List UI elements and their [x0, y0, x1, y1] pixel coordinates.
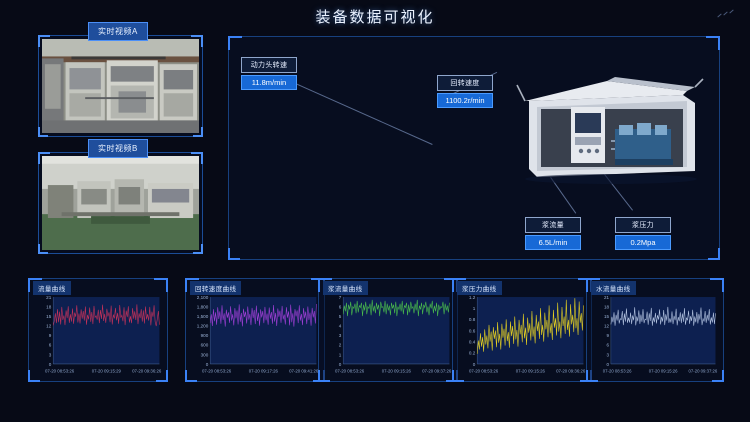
video-frame-a: [38, 35, 203, 137]
tag-slurry-flow-value: 6.5L/min: [525, 235, 581, 250]
video-panel-b[interactable]: 实时视频B: [38, 152, 203, 254]
svg-text:0.6: 0.6: [469, 328, 476, 333]
svg-text:07-20 09:15:29: 07-20 09:15:29: [92, 369, 122, 374]
chart-title-4: 水流量曲线: [591, 281, 636, 295]
svg-text:2,100: 2,100: [197, 295, 209, 300]
video-frame-b: [38, 152, 203, 254]
tag-spindle-speed-name: 动力头转速: [241, 57, 297, 73]
svg-text:12: 12: [46, 323, 51, 328]
video-still-a: [42, 39, 199, 133]
svg-text:07-20 09:17:26: 07-20 09:17:26: [249, 369, 279, 374]
chart-card-4[interactable]: 水流量曲线 21181512963007-20 08:53:2607-20 09…: [586, 278, 724, 382]
svg-text:21: 21: [46, 295, 51, 300]
svg-text:3: 3: [606, 352, 609, 357]
svg-text:0: 0: [49, 362, 52, 367]
svg-text:07-20 09:15:26: 07-20 09:15:26: [516, 369, 546, 374]
chart-strip: 流量曲线 21181512963007-20 08:53:2607-20 09:…: [0, 278, 750, 388]
svg-text:21: 21: [604, 295, 609, 300]
svg-text:07-20 08:53:26: 07-20 08:53:26: [335, 369, 365, 374]
chart-card-3[interactable]: 浆压力曲线 1.210.80.60.40.2007-20 08:53:2607-…: [452, 278, 592, 382]
svg-text:0: 0: [606, 362, 609, 367]
svg-text:07-20 08:53:26: 07-20 08:53:26: [202, 369, 232, 374]
video-surface-b[interactable]: [42, 156, 199, 250]
svg-text:0.2: 0.2: [469, 351, 476, 356]
svg-text:07-20 09:41:26: 07-20 09:41:26: [289, 369, 319, 374]
svg-text:07-20 09:15:26: 07-20 09:15:26: [649, 369, 678, 374]
svg-text:0.8: 0.8: [469, 317, 476, 322]
svg-text:15: 15: [46, 314, 51, 319]
chart-plot-4: 21181512963007-20 08:53:2607-20 09:15:26…: [592, 293, 718, 376]
tag-spindle-speed-value: 11.8m/min: [241, 75, 297, 90]
svg-text:600: 600: [201, 343, 209, 348]
svg-text:4: 4: [339, 323, 342, 328]
svg-text:6: 6: [49, 343, 52, 348]
svg-text:300: 300: [201, 352, 209, 357]
svg-text:2: 2: [339, 343, 342, 348]
svg-text:6: 6: [339, 304, 342, 309]
diagonal-dots-icon: [716, 8, 738, 24]
svg-text:9: 9: [49, 333, 52, 338]
tag-slurry-flow-name: 浆流量: [525, 217, 581, 233]
tag-slurry-pressure-value: 0.2Mpa: [615, 235, 671, 250]
svg-text:12: 12: [604, 323, 609, 328]
chart-title-1: 回转速度曲线: [190, 281, 241, 295]
container-equipment-illustration: [511, 67, 711, 187]
chart-plot-0: 21181512963007-20 08:53:2607-20 09:15:29…: [34, 293, 162, 376]
svg-text:07-20 09:36:26: 07-20 09:36:26: [556, 369, 586, 374]
svg-text:07-20 09:37:26: 07-20 09:37:26: [689, 369, 718, 374]
svg-text:1,800: 1,800: [197, 304, 209, 309]
video-label-a: 实时视频A: [88, 22, 148, 41]
video-label-b: 实时视频B: [88, 139, 148, 158]
svg-text:1.2: 1.2: [469, 295, 476, 300]
page-title: 装备数据可视化: [315, 6, 434, 27]
svg-text:07-20 08:53:26: 07-20 08:53:26: [603, 369, 632, 374]
svg-text:9: 9: [606, 333, 609, 338]
svg-text:1: 1: [473, 306, 476, 311]
tag-rotary-speed-name: 回转速度: [437, 75, 493, 91]
tag-slurry-flow: 浆流量 6.5L/min: [525, 217, 581, 250]
tag-slurry-pressure: 浆压力 0.2Mpa: [615, 217, 671, 250]
video-surface-a[interactable]: [42, 39, 199, 133]
chart-plot-2: 7654321007-20 08:53:2607-20 09:15:2607-2…: [324, 293, 452, 376]
video-panel-a[interactable]: 实时视频A: [38, 35, 203, 137]
chart-card-1[interactable]: 回转速度曲线 2,1001,8001,5001,200900600300007-…: [185, 278, 325, 382]
video-still-b: [42, 156, 199, 250]
svg-text:07-20 09:36:26: 07-20 09:36:26: [132, 369, 162, 374]
svg-text:18: 18: [46, 304, 51, 309]
tag-rotary-speed: 回转速度 1100.2r/min: [437, 75, 493, 108]
svg-text:3: 3: [49, 352, 52, 357]
svg-text:0: 0: [206, 362, 209, 367]
leader-line-spindle: [291, 81, 433, 145]
chart-card-2[interactable]: 浆流量曲线 7654321007-20 08:53:2607-20 09:15:…: [318, 278, 458, 382]
svg-text:07-20 09:15:26: 07-20 09:15:26: [382, 369, 412, 374]
tag-spindle-speed: 动力头转速 11.8m/min: [241, 57, 297, 90]
chart-title-0: 流量曲线: [33, 281, 71, 295]
svg-text:0: 0: [339, 362, 342, 367]
chart-plot-3: 1.210.80.60.40.2007-20 08:53:2607-20 09:…: [458, 293, 586, 376]
svg-text:18: 18: [604, 304, 609, 309]
svg-text:3: 3: [339, 333, 342, 338]
svg-text:07-20 08:53:26: 07-20 08:53:26: [469, 369, 499, 374]
svg-text:15: 15: [604, 314, 609, 319]
svg-text:1: 1: [339, 352, 342, 357]
chart-title-2: 浆流量曲线: [323, 281, 368, 295]
svg-text:07-20 08:53:26: 07-20 08:53:26: [45, 369, 75, 374]
svg-text:900: 900: [201, 333, 209, 338]
chart-card-0[interactable]: 流量曲线 21181512963007-20 08:53:2607-20 09:…: [28, 278, 168, 382]
svg-text:1,200: 1,200: [197, 323, 209, 328]
svg-text:07-20 09:37:26: 07-20 09:37:26: [422, 369, 452, 374]
chart-title-3: 浆压力曲线: [457, 281, 502, 295]
equipment-diagram-panel: 动力头转速 11.8m/min 回转速度 1100.2r/min 浆流量 6.5…: [228, 36, 720, 260]
tag-rotary-speed-value: 1100.2r/min: [437, 93, 493, 108]
chart-plot-1: 2,1001,8001,5001,200900600300007-20 08:5…: [191, 293, 319, 376]
svg-text:0.4: 0.4: [469, 339, 476, 344]
svg-text:0: 0: [473, 362, 476, 367]
tag-slurry-pressure-name: 浆压力: [615, 217, 671, 233]
svg-text:6: 6: [606, 343, 609, 348]
svg-text:1,500: 1,500: [197, 314, 209, 319]
svg-text:5: 5: [339, 314, 342, 319]
svg-text:7: 7: [339, 295, 342, 300]
